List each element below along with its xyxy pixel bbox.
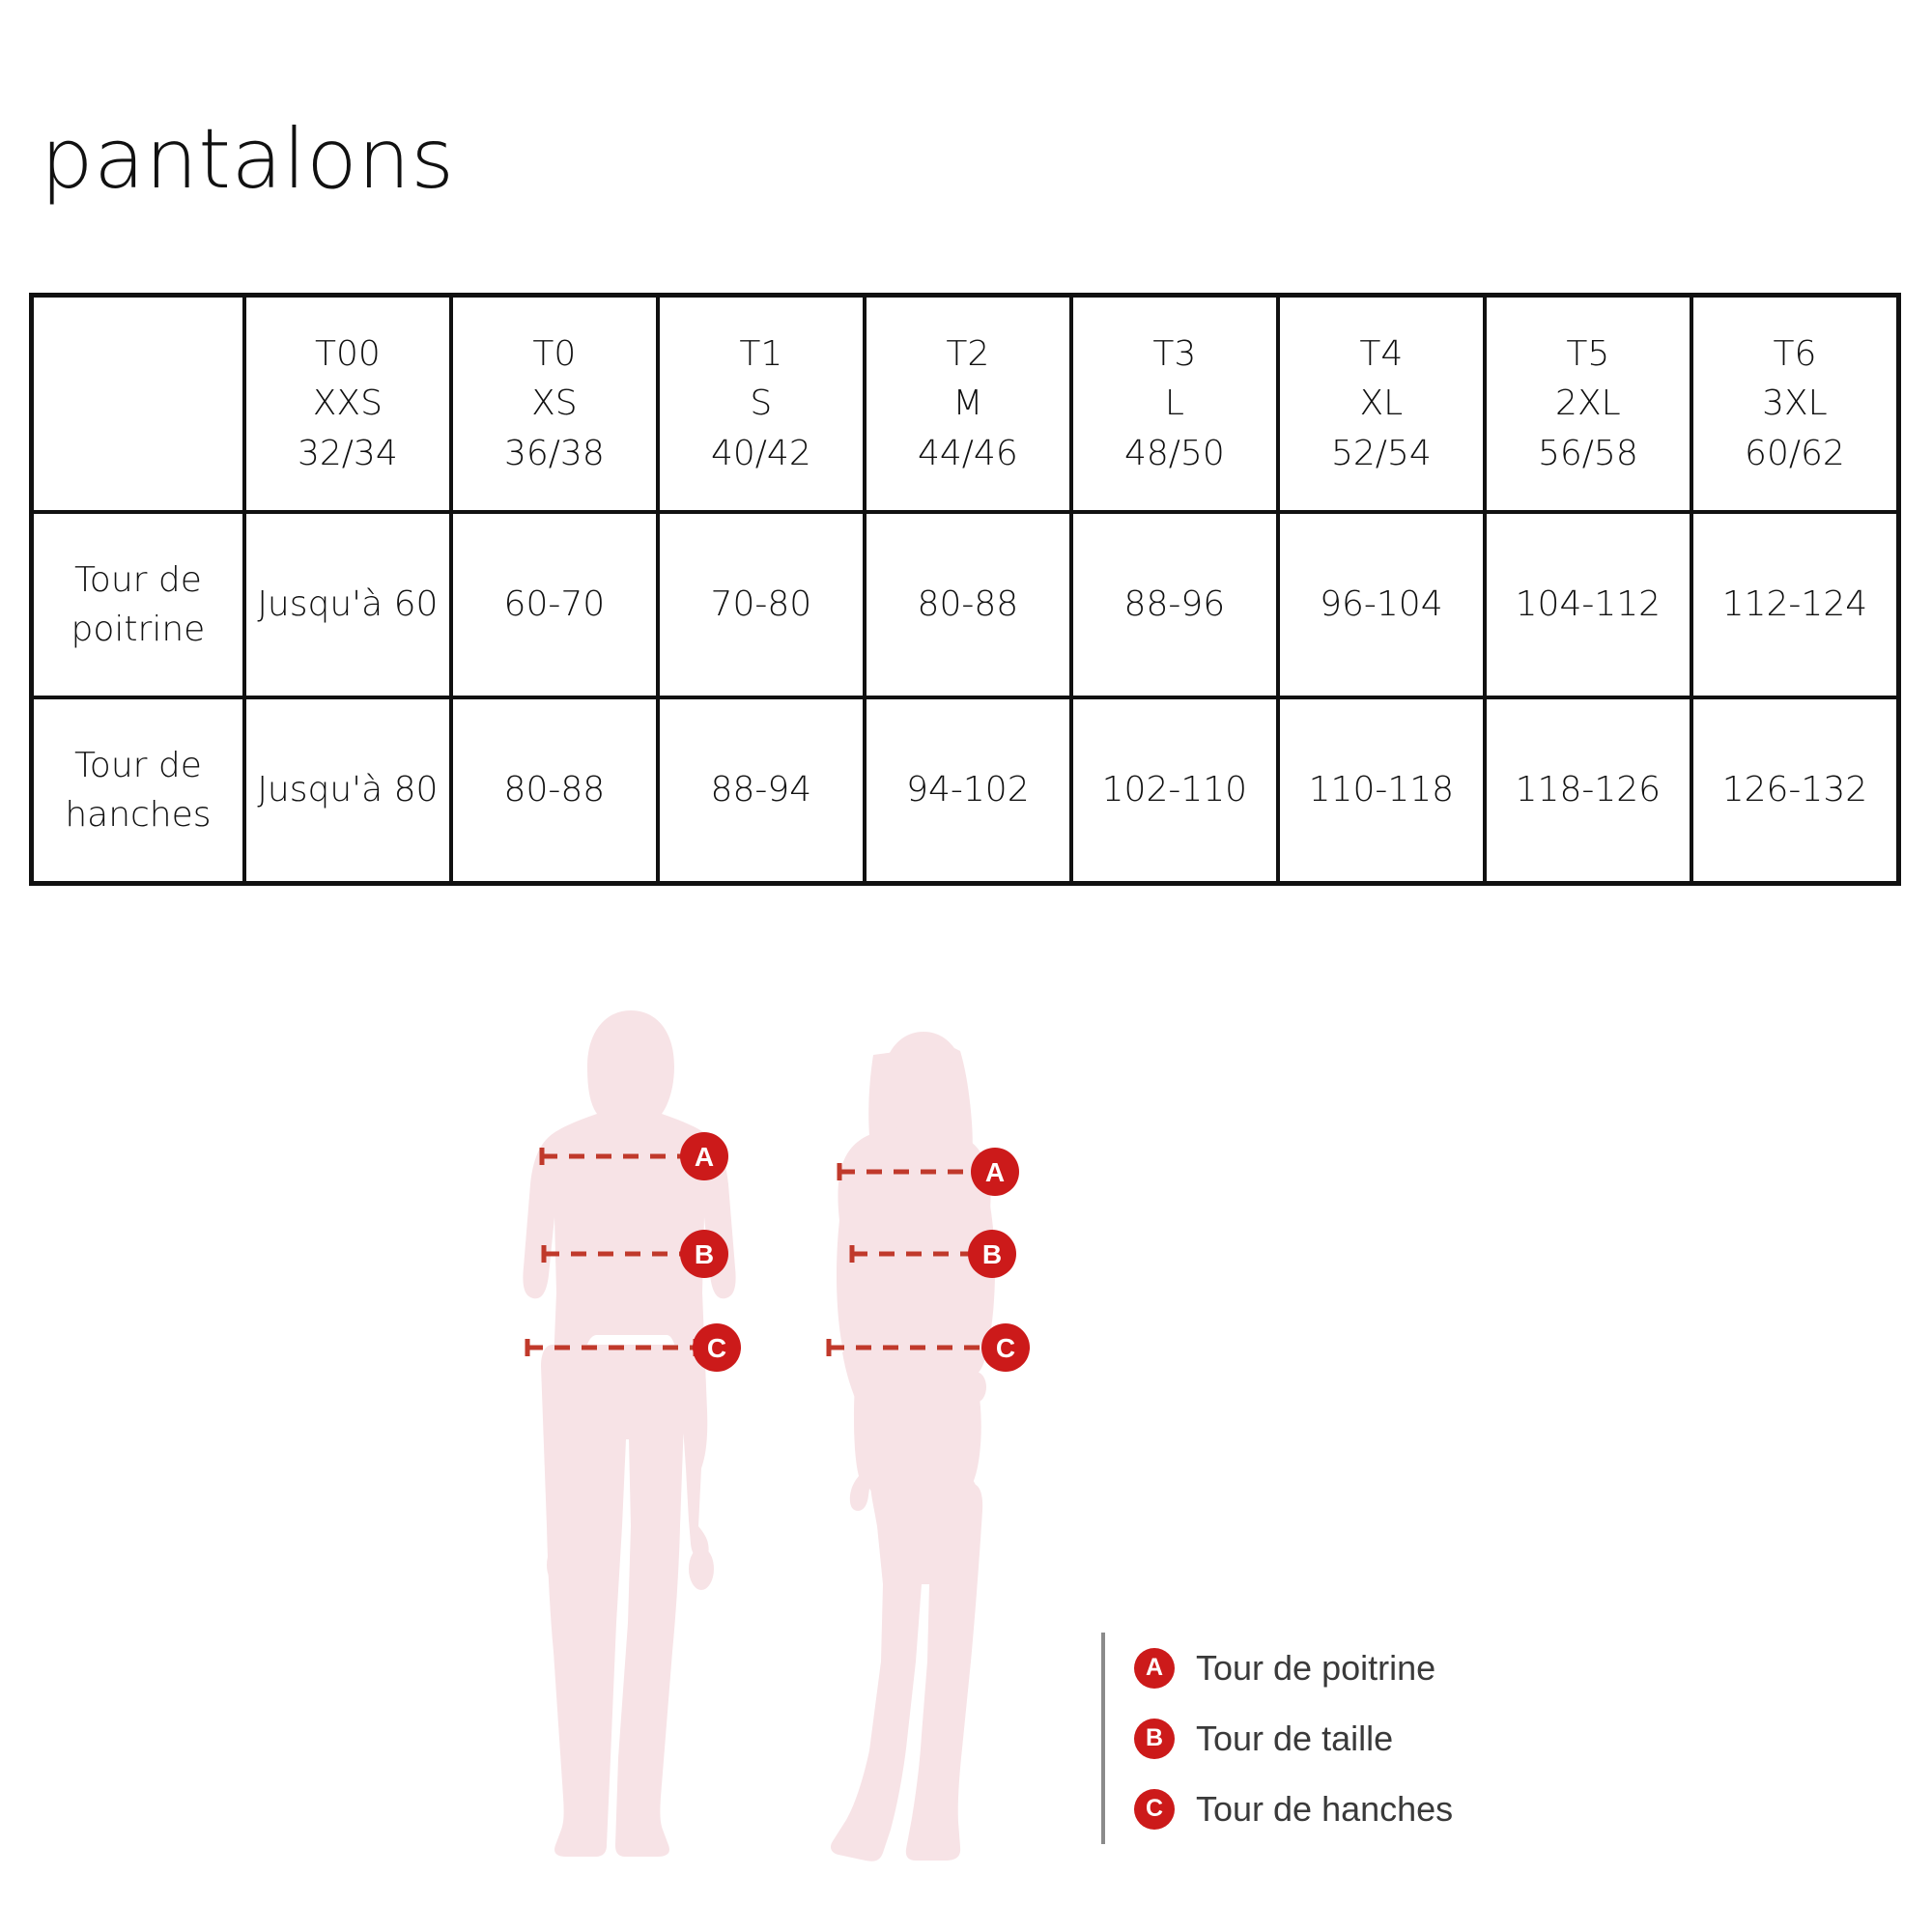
size-code: T6 — [1697, 329, 1892, 379]
size-letter: S — [664, 379, 859, 428]
legend-label-c: Tour de hanches — [1196, 1789, 1453, 1830]
cell-poitrine-t2: 80-88 — [865, 512, 1071, 697]
cell-hanches-t0: 80-88 — [451, 697, 658, 884]
table-row: Tour de hanches Jusqu'à 80 80-88 88-94 9… — [32, 697, 1899, 884]
table-header-cell-t2: T2 M 44/46 — [865, 296, 1071, 513]
cell-poitrine-t4: 96-104 — [1278, 512, 1485, 697]
svg-text:A: A — [985, 1157, 1005, 1187]
size-numeric: 52/54 — [1284, 429, 1479, 478]
measurement-figure-area: A B C — [0, 985, 1932, 1913]
size-numeric: 48/50 — [1077, 429, 1272, 478]
cell-hanches-t1: 88-94 — [658, 697, 865, 884]
table-header-cell-t6: T6 3XL 60/62 — [1691, 296, 1899, 513]
size-code: T1 — [664, 329, 859, 379]
table-header-row: T00 XXS 32/34 T0 XS 36/38 T1 S 40/42 T2 … — [32, 296, 1899, 513]
row-label-poitrine: Tour de poitrine — [32, 512, 244, 697]
cell-hanches-t3: 102-110 — [1071, 697, 1278, 884]
cell-poitrine-t00: Jusqu'à 60 — [244, 512, 451, 697]
size-letter: XXS — [250, 379, 445, 428]
svg-text:B: B — [695, 1239, 714, 1269]
svg-text:A: A — [695, 1142, 714, 1172]
svg-text:B: B — [982, 1239, 1002, 1269]
table-header-cell-t5: T5 2XL 56/58 — [1485, 296, 1691, 513]
table-header-cell-t0: T0 XS 36/38 — [451, 296, 658, 513]
cell-hanches-t2: 94-102 — [865, 697, 1071, 884]
size-code: T0 — [457, 329, 652, 379]
size-letter: XS — [457, 379, 652, 428]
size-numeric: 44/46 — [870, 429, 1065, 478]
legend-label-a: Tour de poitrine — [1196, 1648, 1435, 1689]
legend-label-b: Tour de taille — [1196, 1719, 1393, 1759]
size-letter: XL — [1284, 379, 1479, 428]
size-code: T3 — [1077, 329, 1272, 379]
cell-hanches-t5: 118-126 — [1485, 697, 1691, 884]
size-chart-table-container: T00 XXS 32/34 T0 XS 36/38 T1 S 40/42 T2 … — [29, 293, 1901, 886]
size-letter: 3XL — [1697, 379, 1892, 428]
cell-poitrine-t3: 88-96 — [1071, 512, 1278, 697]
legend-item-c: C Tour de hanches — [1134, 1774, 1507, 1844]
cell-poitrine-t5: 104-112 — [1485, 512, 1691, 697]
female-silhouette-icon — [831, 1032, 995, 1861]
table-header-cell-t3: T3 L 48/50 — [1071, 296, 1278, 513]
legend-item-a: A Tour de poitrine — [1134, 1633, 1507, 1703]
size-numeric: 36/38 — [457, 429, 652, 478]
size-letter: M — [870, 379, 1065, 428]
size-code: T2 — [870, 329, 1065, 379]
size-numeric: 60/62 — [1697, 429, 1892, 478]
size-letter: 2XL — [1491, 379, 1686, 428]
table-row: Tour de poitrine Jusqu'à 60 60-70 70-80 … — [32, 512, 1899, 697]
table-header-cell-t4: T4 XL 52/54 — [1278, 296, 1485, 513]
cell-poitrine-t0: 60-70 — [451, 512, 658, 697]
size-code: T5 — [1491, 329, 1686, 379]
row-label-hanches: Tour de hanches — [32, 697, 244, 884]
cell-poitrine-t1: 70-80 — [658, 512, 865, 697]
size-chart-table: T00 XXS 32/34 T0 XS 36/38 T1 S 40/42 T2 … — [29, 293, 1901, 886]
body-silhouettes: A B C — [502, 985, 1063, 1893]
silhouettes-svg: A B C — [502, 985, 1063, 1893]
size-numeric: 56/58 — [1491, 429, 1686, 478]
cell-hanches-t6: 126-132 — [1691, 697, 1899, 884]
legend-badge-b-icon: B — [1134, 1719, 1175, 1759]
measurement-legend: A Tour de poitrine B Tour de taille C To… — [1101, 1633, 1507, 1844]
cell-hanches-t00: Jusqu'à 80 — [244, 697, 451, 884]
page-title: pantalons — [41, 118, 455, 201]
cell-poitrine-t6: 112-124 — [1691, 512, 1899, 697]
svg-text:C: C — [996, 1333, 1015, 1363]
legend-item-b: B Tour de taille — [1134, 1703, 1507, 1774]
svg-text:C: C — [707, 1333, 726, 1363]
size-code: T4 — [1284, 329, 1479, 379]
table-header-cell-t1: T1 S 40/42 — [658, 296, 865, 513]
table-corner-cell — [32, 296, 244, 513]
cell-hanches-t4: 110-118 — [1278, 697, 1485, 884]
size-numeric: 32/34 — [250, 429, 445, 478]
size-code: T00 — [250, 329, 445, 379]
legend-badge-a-icon: A — [1134, 1648, 1175, 1689]
legend-badge-c-icon: C — [1134, 1789, 1175, 1830]
size-letter: L — [1077, 379, 1272, 428]
table-header-cell-t00: T00 XXS 32/34 — [244, 296, 451, 513]
size-numeric: 40/42 — [664, 429, 859, 478]
